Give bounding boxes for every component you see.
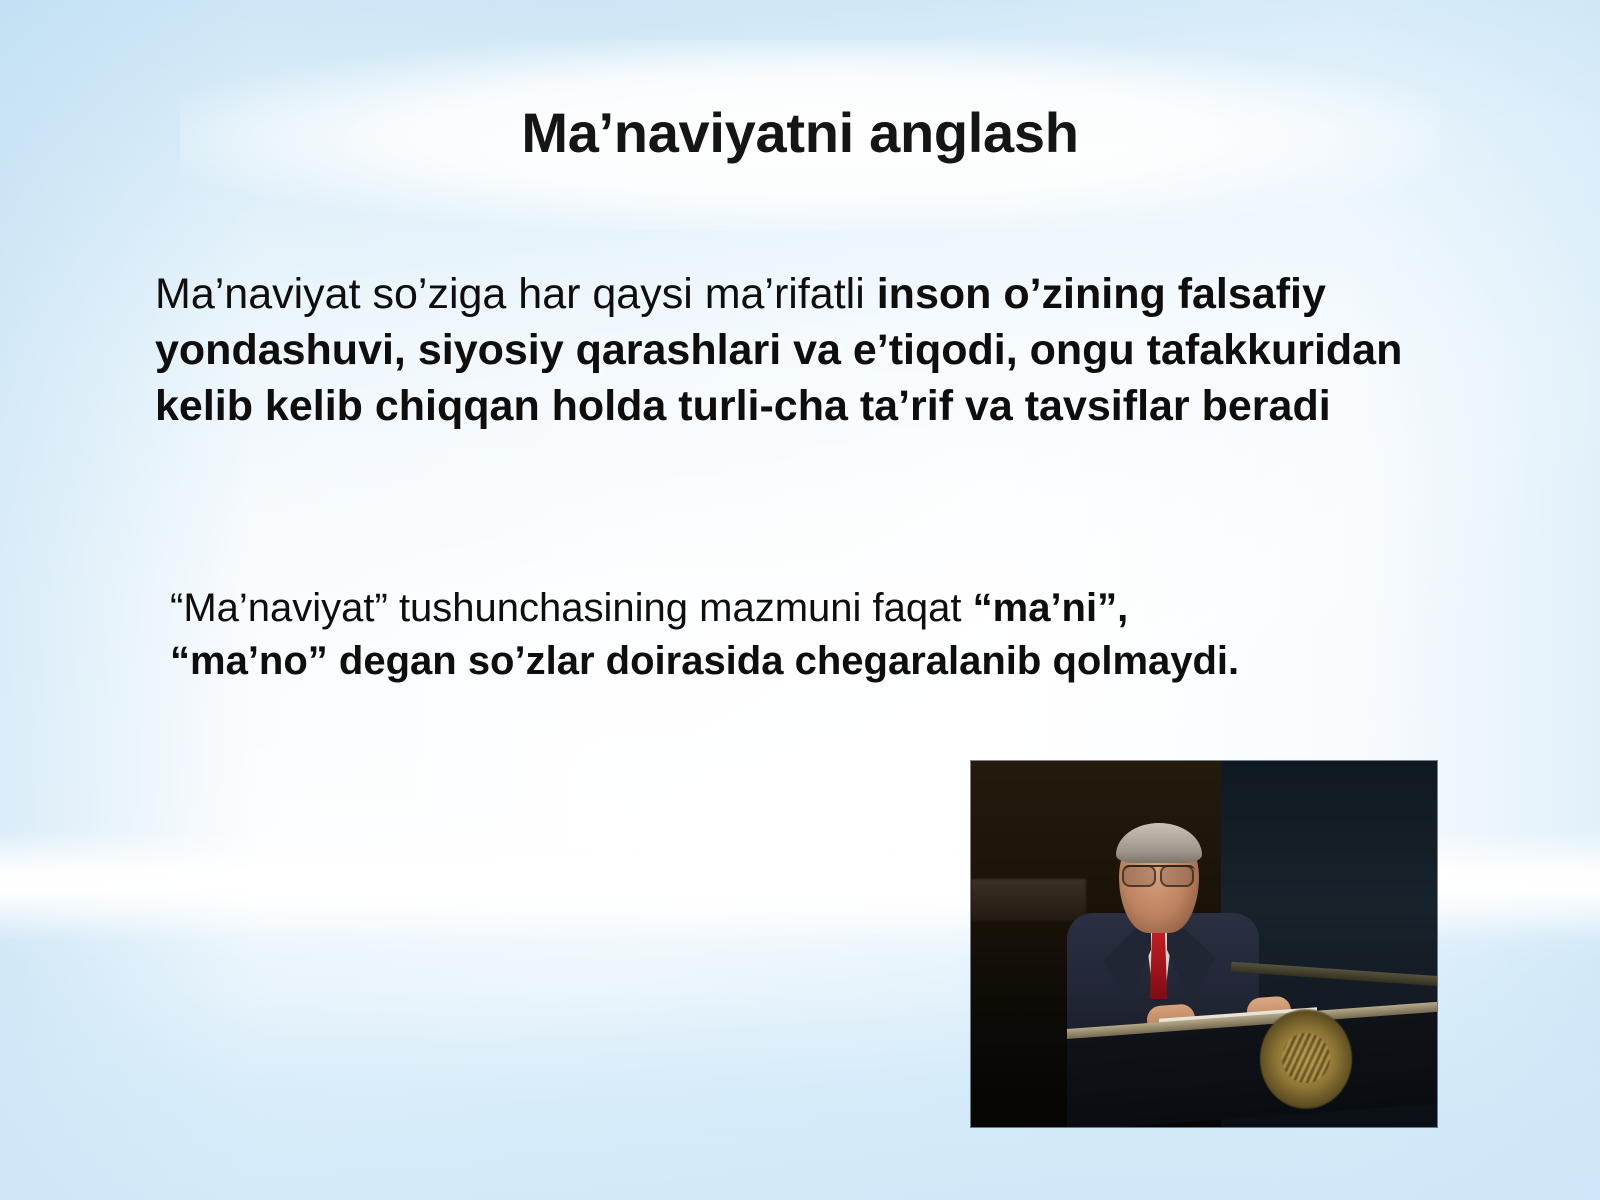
un-emblem-icon	[1260, 1009, 1352, 1109]
photo-speaker-glasses-right-lens	[1160, 865, 1194, 887]
slide-title: Ma’naviyatni anglash	[0, 104, 1600, 163]
paragraph-two-regular-text: “Ma’naviyat” tushunchasining mazmuni faq…	[170, 586, 973, 630]
speaker-photo	[971, 761, 1437, 1127]
presentation-slide: Ma’naviyatni anglash Ma’naviyat so’ziga …	[0, 0, 1600, 1200]
body-paragraph-one: Ma’naviyat so’ziga har qaysi ma’rifatli …	[155, 266, 1435, 434]
photo-speaker-glasses-left-lens	[1122, 865, 1156, 887]
photo-background-ledge	[971, 879, 1086, 921]
paragraph-one-regular-text: Ma’naviyat so’ziga har qaysi ma’rifatli	[155, 270, 877, 318]
body-paragraph-two: “Ma’naviyat” tushunchasining mazmuni faq…	[170, 582, 1270, 688]
